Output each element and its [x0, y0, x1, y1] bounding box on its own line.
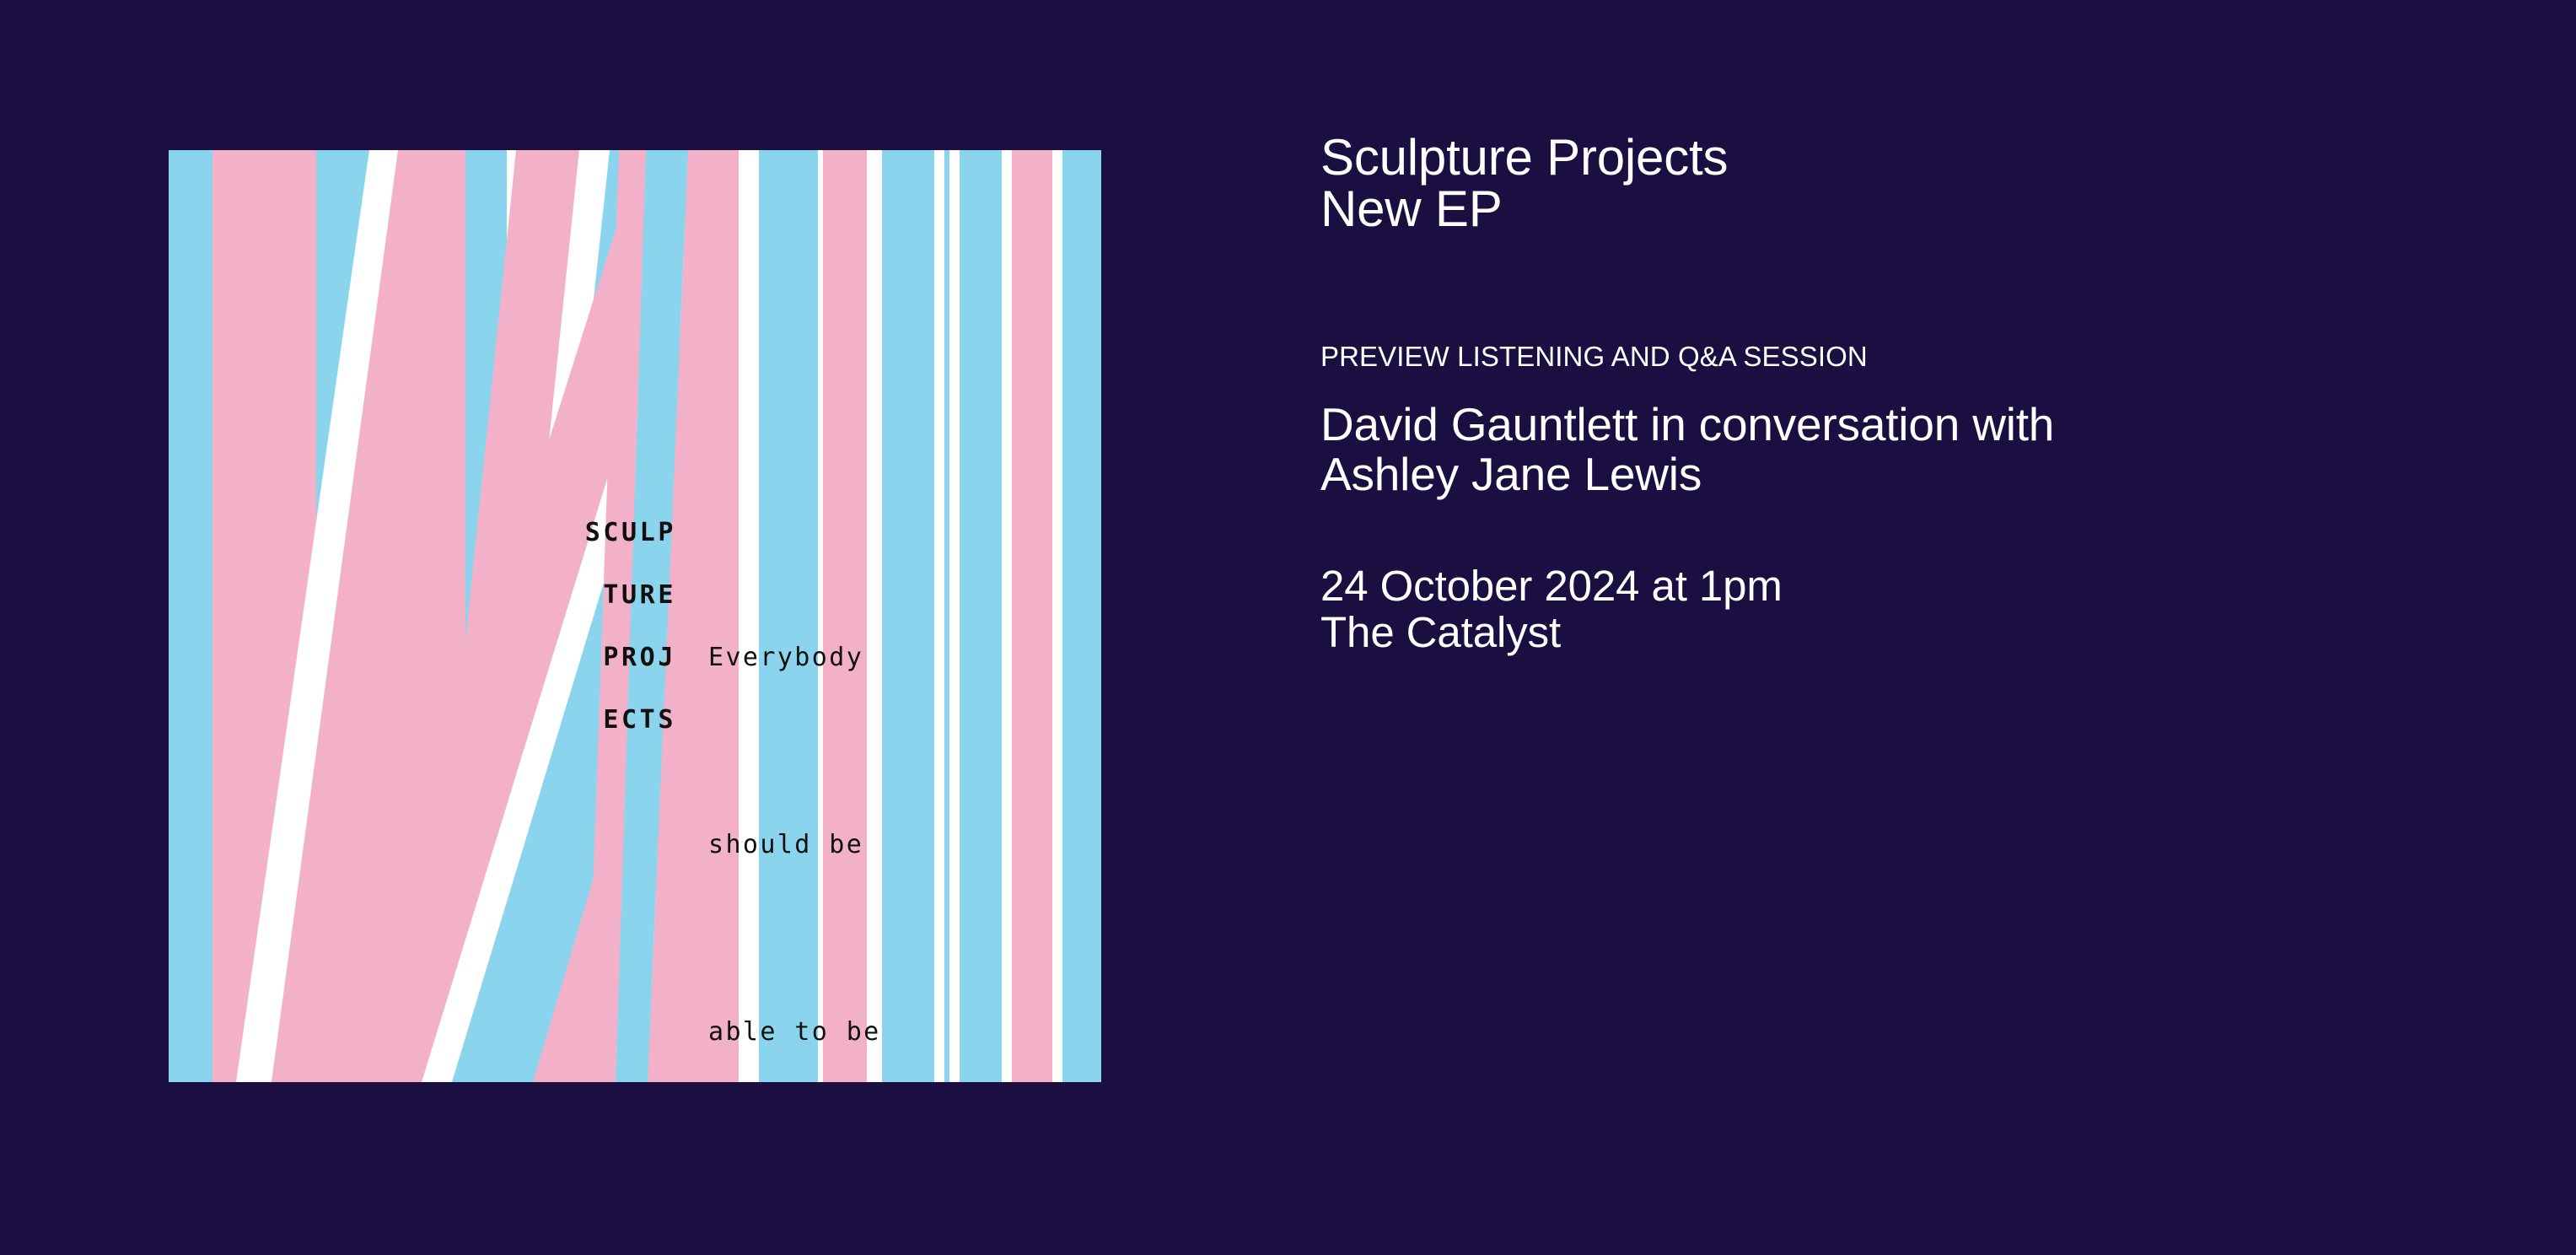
event-venue: The Catalyst: [1320, 610, 2467, 656]
album-artwork: SCULP TURE PROJ ECTS Everybody should be…: [169, 150, 1101, 1082]
page-title-line: New EP: [1320, 183, 2467, 234]
page-title: Sculpture Projects New EP: [1320, 132, 2467, 234]
page-title-line: Sculpture Projects: [1320, 132, 2467, 183]
event-type-block: PREVIEW LISTENING AND Q&A SESSION: [1320, 342, 2467, 370]
album-stripe-overlay: [169, 150, 1101, 1082]
event-type-label: PREVIEW LISTENING AND Q&A SESSION: [1320, 342, 2467, 370]
event-datetime: 24 October 2024 at 1pm: [1320, 563, 2467, 610]
event-poster: SCULP TURE PROJ ECTS Everybody should be…: [0, 0, 2576, 1255]
speakers-line: David Gauntlett in conversation with: [1320, 400, 2467, 450]
event-info-panel: Sculpture Projects New EP PREVIEW LISTEN…: [1320, 132, 2467, 655]
speakers-block: David Gauntlett in conversation with Ash…: [1320, 400, 2467, 499]
event-details-block: 24 October 2024 at 1pm The Catalyst: [1320, 563, 2467, 655]
speakers-line: Ashley Jane Lewis: [1320, 450, 2467, 499]
